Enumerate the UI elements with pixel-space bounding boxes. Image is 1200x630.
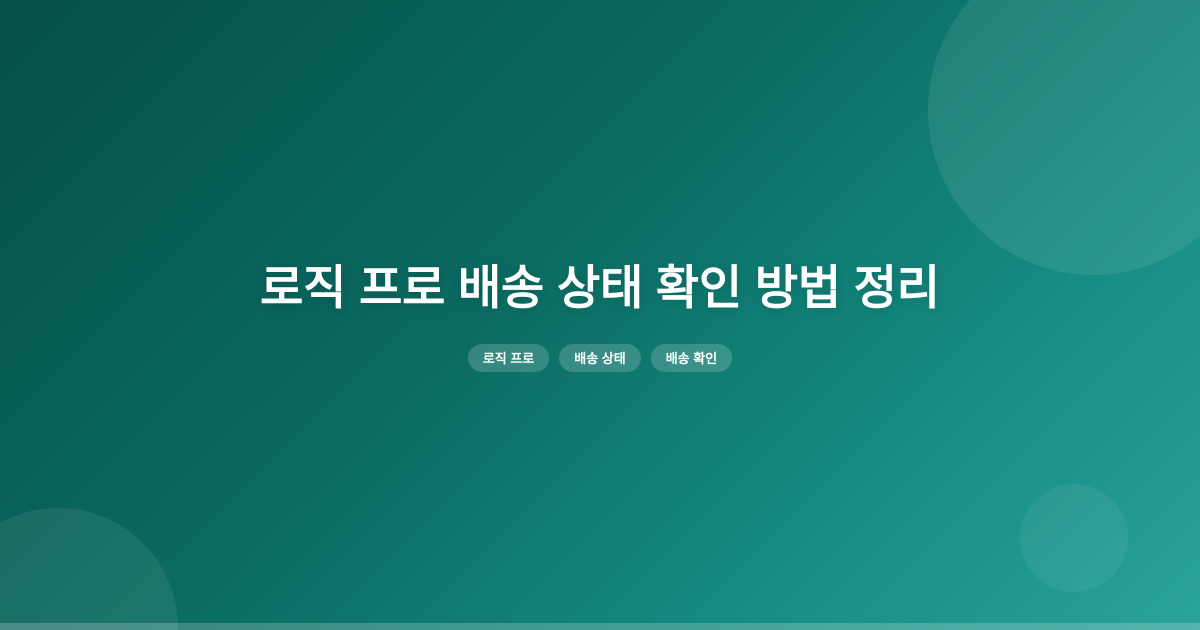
page-title: 로직 프로 배송 상태 확인 방법 정리 <box>260 258 940 318</box>
card-content: 로직 프로 배송 상태 확인 방법 정리 로직 프로 배송 상태 배송 확인 <box>0 0 1200 630</box>
tag-chip-2[interactable]: 배송 상태 <box>559 344 640 372</box>
og-share-card: 로직 프로 배송 상태 확인 방법 정리 로직 프로 배송 상태 배송 확인 <box>0 0 1200 630</box>
tag-list: 로직 프로 배송 상태 배송 확인 <box>468 344 732 372</box>
tag-chip-1[interactable]: 로직 프로 <box>468 344 549 372</box>
tag-chip-3[interactable]: 배송 확인 <box>651 344 732 372</box>
bottom-accent-strip <box>0 623 1200 630</box>
